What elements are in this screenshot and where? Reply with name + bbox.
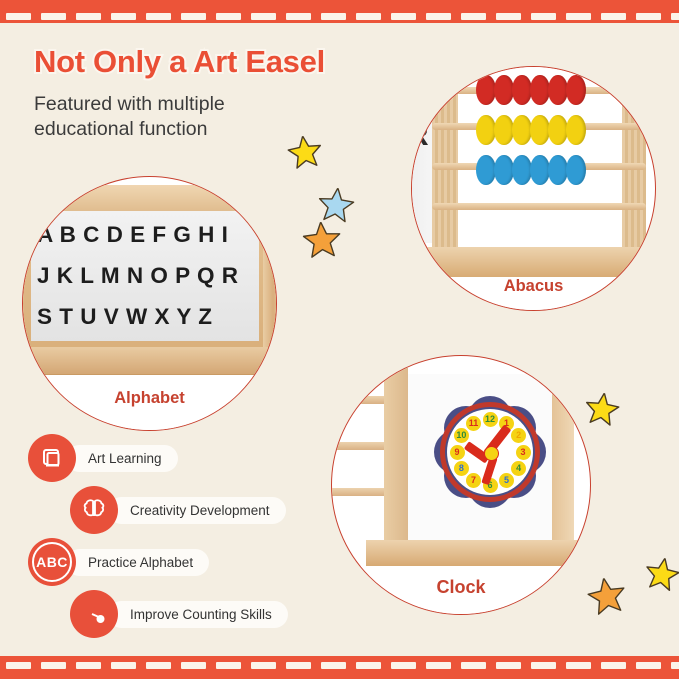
card-caption-clock: Clock: [332, 577, 590, 598]
abc-icon: ABC: [28, 538, 76, 586]
feature-item-counting[interactable]: Improve Counting Skills: [70, 590, 328, 638]
abacus-bead: [548, 115, 568, 145]
clock-number: 3: [516, 445, 531, 460]
alphabet-letters: A B C D E F G H I J K L M N O P Q R S T …: [33, 215, 257, 337]
clock-number: 12: [483, 412, 498, 427]
star-orange-bottom: [585, 575, 629, 619]
star-blue: [316, 186, 356, 226]
book-icon: [28, 434, 76, 482]
abacus-bead: [530, 75, 550, 105]
clock-number: 8: [454, 461, 469, 476]
abacus-bead: [476, 115, 496, 145]
feature-list: Art Learning Creativity Development ABC …: [28, 434, 328, 642]
card-caption-abacus: Abacus: [412, 277, 655, 296]
feature-label: Practice Alphabet: [66, 549, 209, 576]
abacus-bead: [476, 155, 496, 185]
abacus-bead: [530, 155, 550, 185]
abacus-bead: [494, 75, 514, 105]
feature-label: Improve Counting Skills: [108, 601, 288, 628]
abacus-ledge: [411, 247, 656, 277]
clock-number: 9: [450, 445, 465, 460]
abacus-bead: [566, 75, 586, 105]
clock-number: 7: [466, 473, 481, 488]
clock-number: 11: [466, 416, 481, 431]
card-alphabet[interactable]: A B C D E F G H I J K L M N O P Q R S T …: [22, 176, 277, 431]
frame-right-post: [263, 195, 277, 357]
clock-number: 5: [499, 473, 514, 488]
abacus-photo: R: [412, 67, 655, 310]
bottom-dash-pattern: [0, 662, 679, 669]
abacus-bead-row: [476, 115, 584, 145]
adjacent-board-edge: [411, 67, 434, 243]
star-yellow-bottom: [642, 555, 679, 594]
feature-item-creativity[interactable]: Creativity Development: [70, 486, 328, 534]
page-subtitle: Featured with multiple educational funct…: [34, 92, 304, 142]
infographic-canvas: Not Only a Art Easel Featured with multi…: [0, 0, 679, 679]
clock-dial: 121234567891011: [447, 409, 533, 495]
feature-item-practice-alphabet[interactable]: ABC Practice Alphabet: [28, 538, 328, 586]
abacus-bead: [512, 75, 532, 105]
brain-icon: [70, 486, 118, 534]
easel-rungs: [331, 374, 388, 542]
easel-ledge: [366, 540, 591, 566]
star-yellow-right: [583, 391, 621, 429]
clock-number: 10: [454, 428, 469, 443]
star-orange-top: [302, 221, 343, 262]
abacus-bead: [566, 155, 586, 185]
card-caption-alphabet: Alphabet: [23, 389, 276, 408]
partial-letter-r: R: [411, 119, 429, 153]
feature-item-art-learning[interactable]: Art Learning: [28, 434, 328, 482]
card-clock[interactable]: 121234567891011 Clock: [331, 355, 591, 615]
star-yellow-top: [286, 134, 324, 172]
abacus-bead-row: [476, 155, 584, 185]
toy-clock: 121234567891011: [434, 396, 546, 508]
abacus-bead-row: [476, 75, 584, 105]
top-dash-pattern: [0, 13, 679, 20]
abacus-bead: [512, 115, 532, 145]
clock-number: 4: [511, 461, 526, 476]
feature-label: Creativity Development: [108, 497, 286, 524]
letter-row: A B C D E F G H I: [33, 222, 257, 248]
top-border-bar: [0, 0, 679, 23]
page-title: Not Only a Art Easel: [34, 44, 325, 80]
frame-ledge: [22, 347, 277, 375]
clock-number: 2: [511, 428, 526, 443]
abacus-counting-icon: [70, 590, 118, 638]
clock-center-hub: [484, 446, 499, 461]
abacus-bead: [566, 115, 586, 145]
abacus-bead: [548, 75, 568, 105]
abacus-rod: [432, 203, 646, 210]
clock-photo: 121234567891011: [332, 356, 590, 614]
easel-post-left: [384, 368, 408, 544]
letter-row: J K L M N O P Q R: [33, 263, 257, 289]
abacus-bead: [494, 155, 514, 185]
letter-row: S T U V W X Y Z: [33, 304, 257, 330]
abacus-bead: [530, 115, 550, 145]
abacus-bead: [476, 75, 496, 105]
card-abacus[interactable]: R Abacus: [411, 66, 656, 311]
easel-post-right: [552, 368, 574, 544]
bottom-border-bar: [0, 656, 679, 679]
abacus-bead: [512, 155, 532, 185]
feature-label: Art Learning: [66, 445, 178, 472]
abacus-bead: [548, 155, 568, 185]
abacus-bead: [494, 115, 514, 145]
